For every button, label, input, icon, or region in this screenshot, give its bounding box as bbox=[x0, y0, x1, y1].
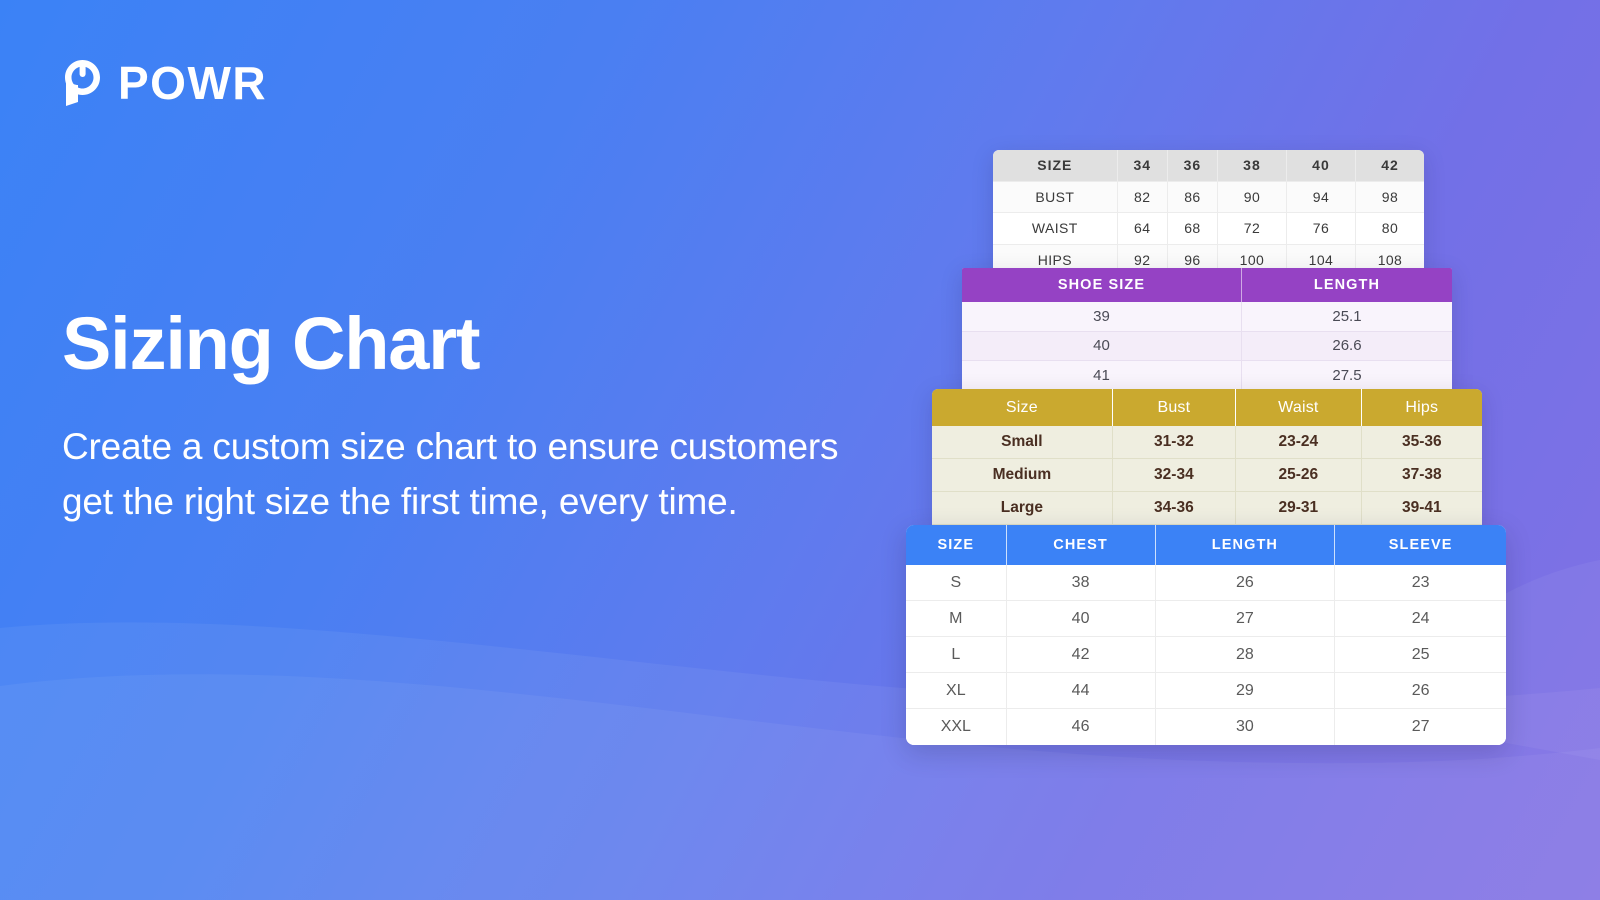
column-header: LENGTH bbox=[1156, 525, 1336, 565]
size-chart-stack: SIZE3436384042BUST8286909498WAIST6468727… bbox=[0, 0, 1600, 900]
table-row: XL442926 bbox=[906, 673, 1506, 709]
table-cell: 29 bbox=[1156, 673, 1336, 709]
table-cell: 32-34 bbox=[1113, 459, 1236, 492]
table-row: M402724 bbox=[906, 601, 1506, 637]
table-cell: 34-36 bbox=[1113, 492, 1236, 525]
column-header: CHEST bbox=[1007, 525, 1156, 565]
table-cell: WAIST bbox=[993, 213, 1117, 245]
table-cell: 31-32 bbox=[1113, 426, 1236, 459]
grey-table-body: SIZE3436384042BUST8286909498WAIST6468727… bbox=[993, 150, 1424, 276]
table-cell: 30 bbox=[1156, 709, 1336, 745]
table-header-cell: 40 bbox=[1286, 150, 1355, 182]
table-cell: Medium bbox=[932, 459, 1113, 492]
column-header: SHOE SIZE bbox=[962, 268, 1242, 302]
table-cell: 26 bbox=[1156, 565, 1336, 601]
table-cell: 40 bbox=[1007, 601, 1156, 637]
table-cell: L bbox=[906, 637, 1007, 673]
column-header: SLEEVE bbox=[1335, 525, 1506, 565]
table-cell: 82 bbox=[1117, 182, 1167, 214]
table-cell: XL bbox=[906, 673, 1007, 709]
blue-table-head: SIZECHESTLENGTHSLEEVE bbox=[906, 525, 1506, 565]
table-row: L422825 bbox=[906, 637, 1506, 673]
table-row: 3925.1 bbox=[962, 302, 1452, 332]
table-cell: 24 bbox=[1335, 601, 1506, 637]
table-cell: 25.1 bbox=[1242, 302, 1452, 332]
table-row: SIZE3436384042 bbox=[993, 150, 1424, 182]
table-header-cell: 36 bbox=[1167, 150, 1217, 182]
table-header-cell: 42 bbox=[1355, 150, 1424, 182]
table-cell: 90 bbox=[1217, 182, 1286, 214]
table-cell: XXL bbox=[906, 709, 1007, 745]
table-cell: BUST bbox=[993, 182, 1117, 214]
table-cell: 28 bbox=[1156, 637, 1336, 673]
table-cell: 64 bbox=[1117, 213, 1167, 245]
purple-table-body: 3925.14026.64127.5 bbox=[962, 302, 1452, 391]
column-header: Size bbox=[932, 389, 1113, 426]
table-row: S382623 bbox=[906, 565, 1506, 601]
table-cell: 27 bbox=[1335, 709, 1506, 745]
table-cell: 23 bbox=[1335, 565, 1506, 601]
table-cell: 86 bbox=[1167, 182, 1217, 214]
table-cell: 72 bbox=[1217, 213, 1286, 245]
table-cell: 35-36 bbox=[1362, 426, 1482, 459]
table-cell: 26.6 bbox=[1242, 332, 1452, 362]
table-cell: 44 bbox=[1007, 673, 1156, 709]
table-header-cell: SIZE bbox=[993, 150, 1117, 182]
table-header-row: SHOE SIZELENGTH bbox=[962, 268, 1452, 302]
column-header: Bust bbox=[1113, 389, 1236, 426]
table-cell: 76 bbox=[1286, 213, 1355, 245]
table-row: 4026.6 bbox=[962, 332, 1452, 362]
gold-body-measurement-table[interactable]: SizeBustWaistHips Small31-3223-2435-36Me… bbox=[932, 389, 1482, 525]
table-row: XXL463027 bbox=[906, 709, 1506, 745]
column-header: SIZE bbox=[906, 525, 1007, 565]
column-header: LENGTH bbox=[1242, 268, 1452, 302]
table-cell: 94 bbox=[1286, 182, 1355, 214]
table-cell: 39 bbox=[962, 302, 1242, 332]
gold-table-body: Small31-3223-2435-36Medium32-3425-2637-3… bbox=[932, 426, 1482, 525]
purple-shoe-size-table[interactable]: SHOE SIZELENGTH 3925.14026.64127.5 bbox=[962, 268, 1452, 391]
table-row: 4127.5 bbox=[962, 361, 1452, 391]
table-cell: 27 bbox=[1156, 601, 1336, 637]
table-cell: 41 bbox=[962, 361, 1242, 391]
table-cell: 25-26 bbox=[1236, 459, 1362, 492]
table-header-cell: 38 bbox=[1217, 150, 1286, 182]
grey-measurement-table[interactable]: SIZE3436384042BUST8286909498WAIST6468727… bbox=[993, 150, 1424, 276]
table-row: Small31-3223-2435-36 bbox=[932, 426, 1482, 459]
table-row: Large34-3629-3139-41 bbox=[932, 492, 1482, 525]
table-cell: 42 bbox=[1007, 637, 1156, 673]
blue-table-body: S382623M402724L422825XL442926XXL463027 bbox=[906, 565, 1506, 745]
table-cell: 37-38 bbox=[1362, 459, 1482, 492]
table-header-row: SizeBustWaistHips bbox=[932, 389, 1482, 426]
table-cell: M bbox=[906, 601, 1007, 637]
column-header: Hips bbox=[1362, 389, 1482, 426]
table-cell: S bbox=[906, 565, 1007, 601]
table-cell: 26 bbox=[1335, 673, 1506, 709]
table-cell: 25 bbox=[1335, 637, 1506, 673]
table-cell: 38 bbox=[1007, 565, 1156, 601]
table-cell: 46 bbox=[1007, 709, 1156, 745]
table-cell: 39-41 bbox=[1362, 492, 1482, 525]
blue-apparel-size-table[interactable]: SIZECHESTLENGTHSLEEVE S382623M402724L422… bbox=[906, 525, 1506, 745]
table-cell: 98 bbox=[1355, 182, 1424, 214]
table-row: Medium32-3425-2637-38 bbox=[932, 459, 1482, 492]
table-cell: 27.5 bbox=[1242, 361, 1452, 391]
table-cell: Small bbox=[932, 426, 1113, 459]
table-cell: 29-31 bbox=[1236, 492, 1362, 525]
purple-table-head: SHOE SIZELENGTH bbox=[962, 268, 1452, 302]
table-cell: 68 bbox=[1167, 213, 1217, 245]
gold-table-head: SizeBustWaistHips bbox=[932, 389, 1482, 426]
column-header: Waist bbox=[1236, 389, 1362, 426]
table-row: WAIST6468727680 bbox=[993, 213, 1424, 245]
table-cell: 23-24 bbox=[1236, 426, 1362, 459]
table-cell: 80 bbox=[1355, 213, 1424, 245]
table-cell: 40 bbox=[962, 332, 1242, 362]
table-cell: Large bbox=[932, 492, 1113, 525]
table-row: BUST8286909498 bbox=[993, 182, 1424, 214]
table-header-row: SIZECHESTLENGTHSLEEVE bbox=[906, 525, 1506, 565]
table-header-cell: 34 bbox=[1117, 150, 1167, 182]
